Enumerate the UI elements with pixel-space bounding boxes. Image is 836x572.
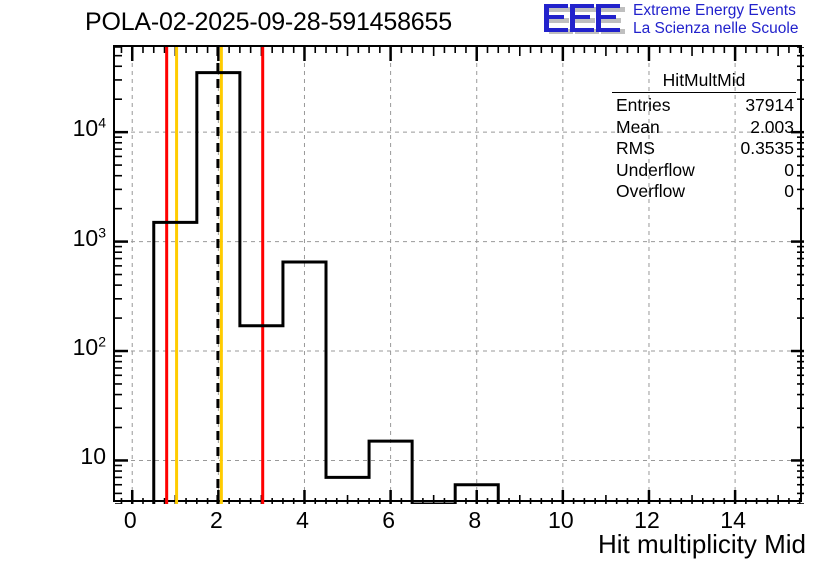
stats-value: 2.003 <box>750 117 794 139</box>
stats-value: 37914 <box>745 95 794 117</box>
x-tick-label-0: 0 <box>100 507 160 534</box>
stats-rows: Entries37914Mean2.003RMS0.3535Underflow0… <box>608 95 800 203</box>
stats-label: RMS <box>616 138 655 160</box>
y-tick-label-100: 102 <box>73 334 106 361</box>
stats-title: HitMultMid <box>612 70 796 93</box>
eee-logo: Extreme Energy Events La Scienza nelle S… <box>543 2 833 40</box>
x-tick-label-4: 4 <box>272 507 332 534</box>
eee-logo-text: Extreme Energy Events La Scienza nelle S… <box>633 2 798 38</box>
y-tick-label-10000: 104 <box>73 115 106 142</box>
eee-logo-mark-icon <box>543 3 627 39</box>
eee-logo-line1: Extreme Energy Events <box>633 2 798 20</box>
stats-value: 0 <box>784 160 794 182</box>
y-tick-label-1000: 103 <box>73 225 106 252</box>
stats-value: 0.3535 <box>740 138 794 160</box>
x-tick-label-2: 2 <box>186 507 246 534</box>
histogram-outline <box>154 73 499 504</box>
x-tick-label-8: 8 <box>445 507 505 534</box>
x-tick-label-10: 10 <box>531 507 591 534</box>
stats-label: Entries <box>616 95 670 117</box>
stats-row: Overflow0 <box>608 181 800 203</box>
marker-lines <box>167 47 263 504</box>
stats-label: Underflow <box>616 160 695 182</box>
root-canvas: POLA-02-2025-09-28-591458655 <box>0 0 836 572</box>
stats-row: Entries37914 <box>608 95 800 117</box>
y-tick-label-10: 10 <box>80 443 106 470</box>
eee-logo-line2: La Scienza nelle Scuole <box>633 20 798 38</box>
stats-label: Mean <box>616 117 660 139</box>
x-tick-label-6: 6 <box>359 507 419 534</box>
stats-label: Overflow <box>616 181 685 203</box>
stats-row: Underflow0 <box>608 160 800 182</box>
stats-row: Mean2.003 <box>608 117 800 139</box>
stats-row: RMS0.3535 <box>608 138 800 160</box>
stats-value: 0 <box>784 181 794 203</box>
stats-box: HitMultMid Entries37914Mean2.003RMS0.353… <box>608 70 800 203</box>
x-axis-title: Hit multiplicity Mid <box>598 529 806 560</box>
page-title: POLA-02-2025-09-28-591458655 <box>85 8 452 37</box>
